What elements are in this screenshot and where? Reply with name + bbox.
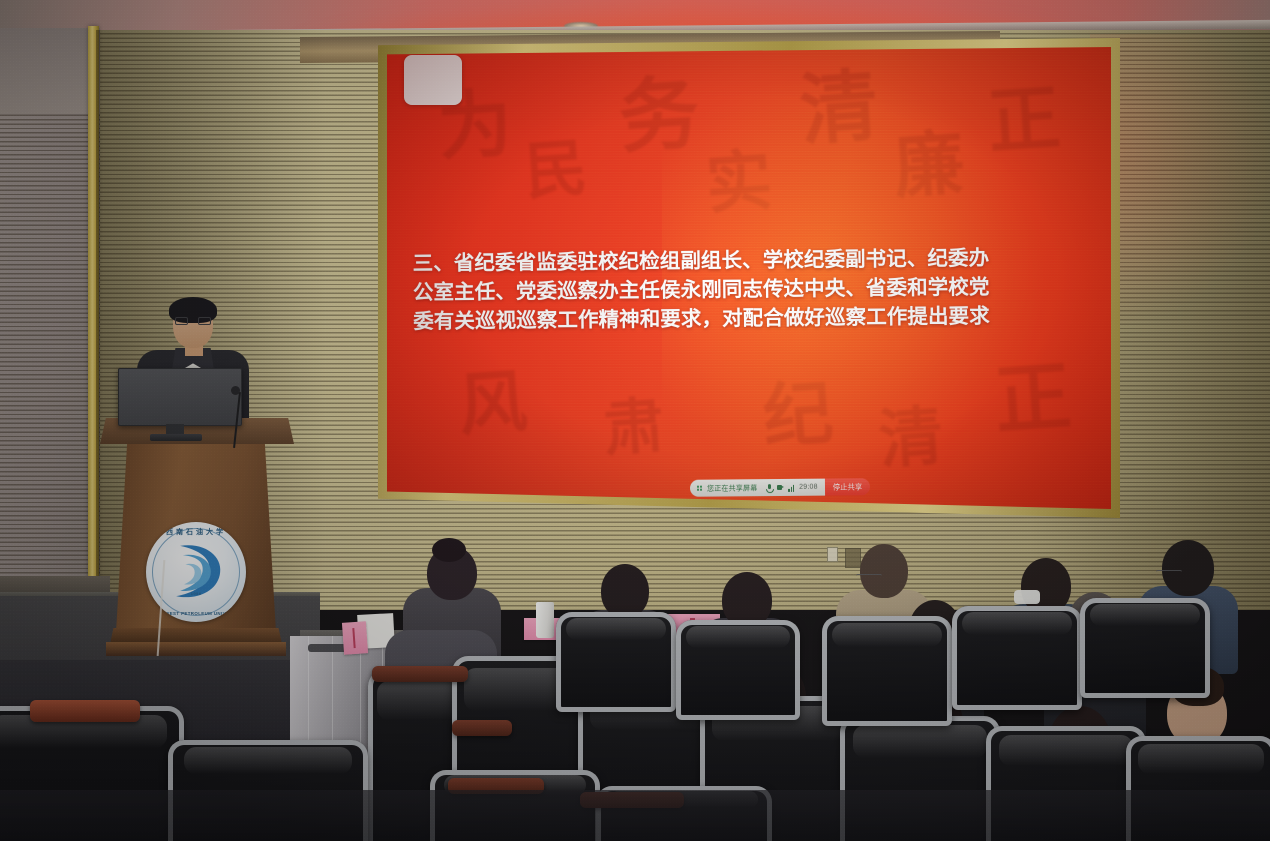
attendee-hair-bun (432, 538, 466, 562)
auditorium-seat[interactable] (952, 606, 1082, 710)
microphone-head (231, 386, 240, 395)
monitor-stand (150, 434, 202, 441)
auditorium-seat[interactable] (822, 616, 952, 726)
seat-armrest (30, 700, 140, 722)
auditorium-seat[interactable] (1080, 598, 1210, 698)
left-wall-upper (0, 28, 100, 114)
screen-vignette (387, 47, 1111, 509)
presenter-glasses (175, 317, 211, 325)
floor-shadow (0, 790, 1270, 841)
seat-armrest (372, 666, 468, 682)
attendee-head (601, 564, 649, 618)
screen-surface: 为 民 务 实 清 廉 正 风 肃 纪 清 正 三、省纪委省监委驻校纪检组副组长… (387, 47, 1111, 509)
auditorium-seat[interactable] (676, 620, 800, 720)
attendee-head (1162, 540, 1214, 596)
led-display-wall: 为 民 务 实 清 廉 正 风 肃 纪 清 正 三、省纪委省监委驻校纪检组副组长… (378, 38, 1120, 518)
attendee-face-mask (1014, 590, 1040, 604)
seat-armrest (452, 720, 512, 736)
auditorium-seat[interactable] (556, 612, 676, 712)
attendee-glasses (856, 574, 882, 581)
confidence-monitor (118, 368, 242, 426)
meeting-room-photo: 为 民 务 实 清 廉 正 风 肃 纪 清 正 三、省纪委省监委驻校纪检组副组长… (0, 0, 1270, 841)
attendee-glasses (1156, 570, 1182, 577)
